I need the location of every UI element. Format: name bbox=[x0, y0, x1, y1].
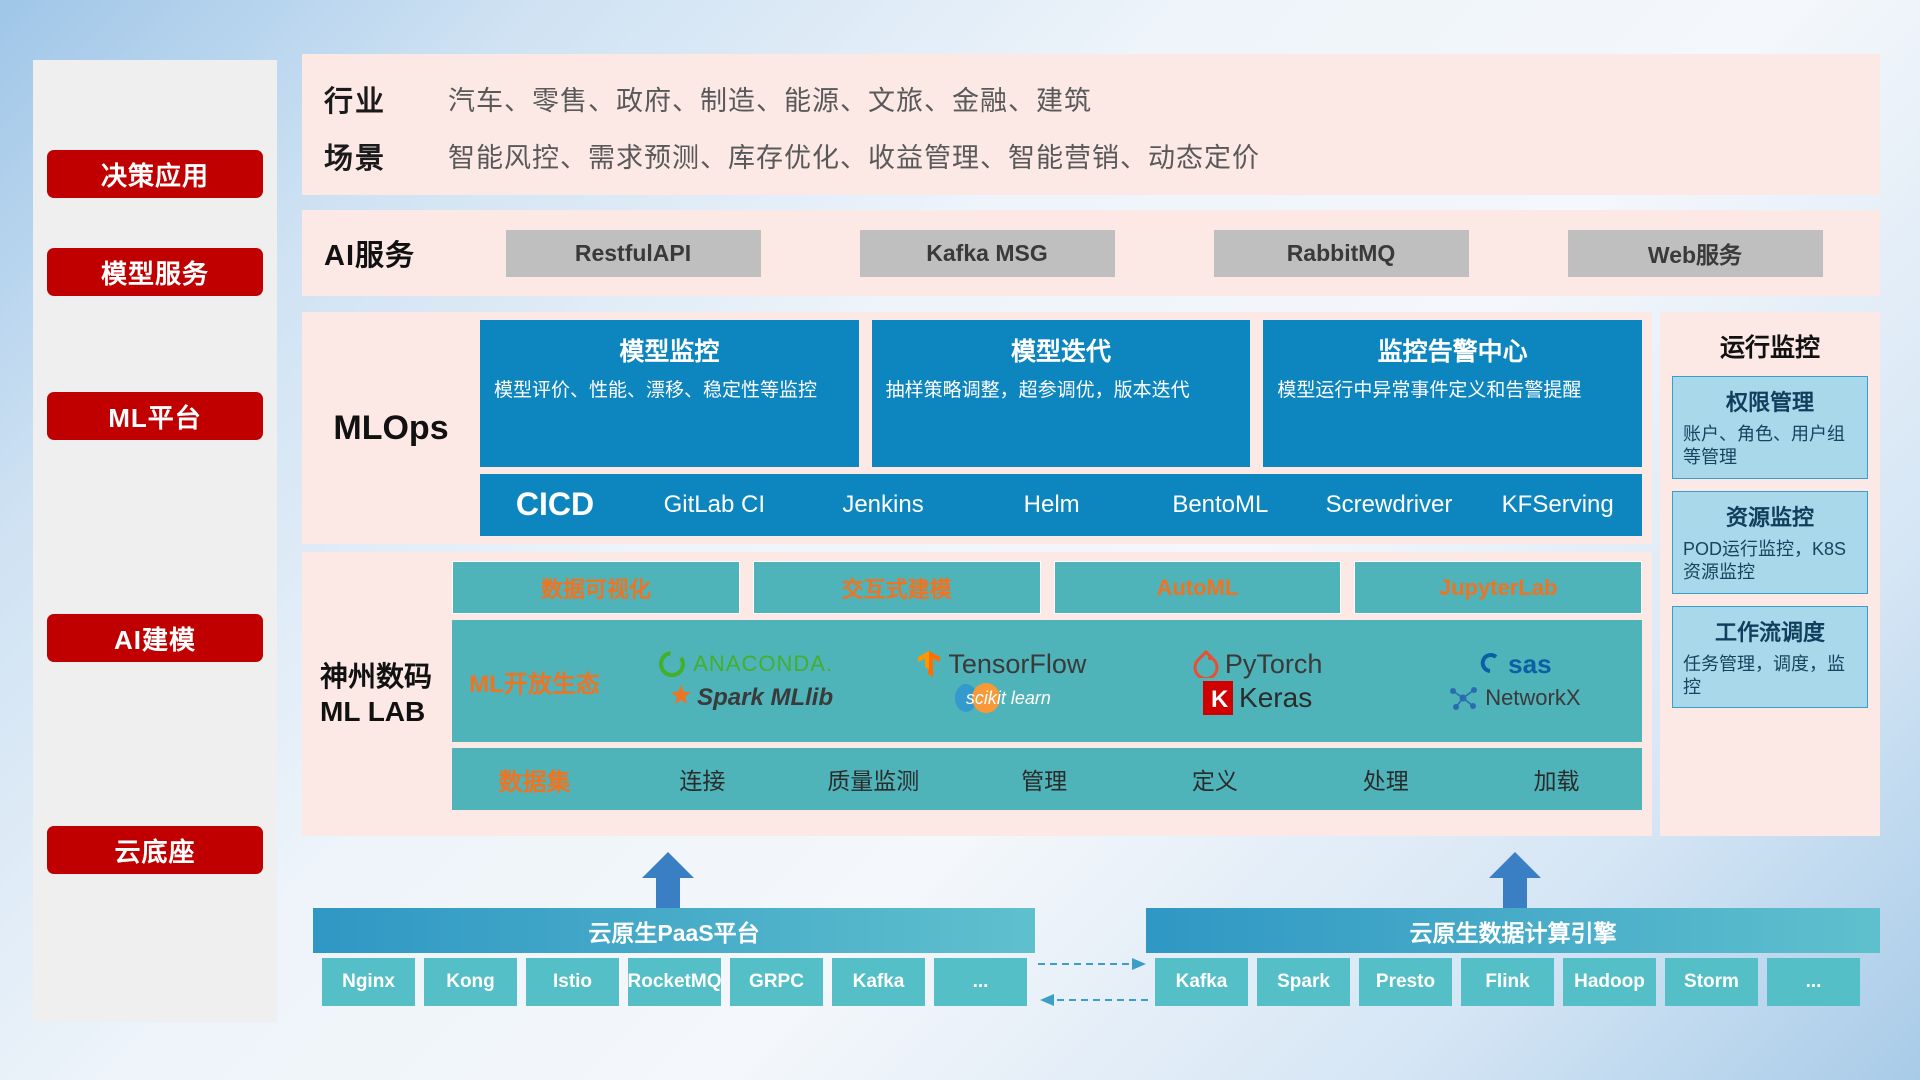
dataset-item-list: 连接 质量监测 管理 定义 处理 加载 bbox=[617, 762, 1642, 796]
dataset-item-load[interactable]: 加载 bbox=[1471, 762, 1642, 796]
runtime-monitor-title: 运行监控 bbox=[1672, 328, 1868, 364]
ml-open-ecosystem-row: ML开放生态 ANACONDA. TensorFlow PyTorch sas bbox=[452, 620, 1642, 742]
dataset-item-quality[interactable]: 质量监测 bbox=[788, 762, 959, 796]
runtime-monitor-column: 运行监控 权限管理 账户、角色、用户组等管理 资源监控 POD运行监控，K8S资… bbox=[1660, 312, 1880, 836]
paas-chip-more[interactable]: ... bbox=[934, 958, 1027, 1006]
scikit-learn-logo: scikit learn bbox=[873, 681, 1129, 715]
paas-chip-rocketmq[interactable]: RocketMQ bbox=[628, 958, 721, 1006]
cicd-item-jenkins[interactable]: Jenkins bbox=[799, 492, 968, 518]
scenario-label: 场景 bbox=[324, 135, 448, 177]
industry-label: 行业 bbox=[324, 78, 448, 120]
bidirectional-dashed-connector bbox=[1038, 952, 1148, 1012]
scenario-values: 智能风控、需求预测、库存优化、收益管理、智能营销、动态定价 bbox=[448, 136, 1260, 175]
ai-service-chip-web-service[interactable]: Web服务 bbox=[1568, 230, 1823, 277]
stage-chip-model-service[interactable]: 模型服务 bbox=[47, 248, 263, 296]
paas-chip-kafka[interactable]: Kafka bbox=[832, 958, 925, 1006]
cloud-data-engine-bar[interactable]: 云原生数据计算引擎 bbox=[1146, 908, 1880, 953]
ml-lab-tool-automl[interactable]: AutoML bbox=[1054, 561, 1342, 614]
cicd-title: CICD bbox=[480, 486, 630, 523]
decision-application-band: 行业 汽车、零售、政府、制造、能源、文旅、金融、建筑 场景 智能风控、需求预测、… bbox=[302, 54, 1880, 195]
mlops-card-list: 模型监控 模型评价、性能、漂移、稳定性等监控 模型迭代 抽样策略调整，超参调优，… bbox=[480, 320, 1642, 467]
ai-service-chip-rabbitmq[interactable]: RabbitMQ bbox=[1214, 230, 1469, 277]
paas-chip-grpc[interactable]: GRPC bbox=[730, 958, 823, 1006]
dataset-label: 数据集 bbox=[452, 762, 617, 797]
ml-lab-content: 数据可视化 交互式建模 AutoML JupyterLab ML开放生态 ANA… bbox=[452, 552, 1652, 836]
cicd-item-list: GitLab CI Jenkins Helm BentoML Screwdriv… bbox=[630, 492, 1642, 518]
ai-service-label: AI服务 bbox=[324, 232, 448, 274]
ecosystem-logo-grid: ANACONDA. TensorFlow PyTorch sas Spark M bbox=[617, 647, 1642, 715]
monitor-card-permission[interactable]: 权限管理 账户、角色、用户组等管理 bbox=[1672, 376, 1868, 479]
tensorflow-logo-text: TensorFlow bbox=[948, 649, 1086, 680]
ml-lab-tool-jupyterlab[interactable]: JupyterLab bbox=[1354, 561, 1642, 614]
stage-chip-ml-platform[interactable]: ML平台 bbox=[47, 392, 263, 440]
engine-chip-flink[interactable]: Flink bbox=[1461, 958, 1554, 1006]
ml-lab-label: 神州数码 ML LAB bbox=[302, 552, 452, 836]
paas-chip-row: Nginx Kong Istio RocketMQ GRPC Kafka ... bbox=[322, 958, 1027, 1006]
ml-lab-label-line2: ML LAB bbox=[320, 694, 425, 729]
ml-lab-label-line1: 神州数码 bbox=[320, 659, 432, 694]
keras-logo: K Keras bbox=[1130, 681, 1386, 715]
dataset-item-manage[interactable]: 管理 bbox=[959, 762, 1130, 796]
stage-chip-ai-modeling[interactable]: AI建模 bbox=[47, 614, 263, 662]
data-engine-chip-row: Kafka Spark Presto Flink Hadoop Storm ..… bbox=[1155, 958, 1860, 1006]
mlops-card-alert-center[interactable]: 监控告警中心 模型运行中异常事件定义和告警提醒 bbox=[1263, 320, 1642, 467]
ml-lab-tool-data-visualization[interactable]: 数据可视化 bbox=[452, 561, 740, 614]
monitor-card-desc: 账户、角色、用户组等管理 bbox=[1683, 423, 1857, 470]
mlops-card-title: 监控告警中心 bbox=[1277, 332, 1628, 368]
engine-chip-storm[interactable]: Storm bbox=[1665, 958, 1758, 1006]
mlops-card-title: 模型迭代 bbox=[886, 332, 1237, 368]
mlops-content: 模型监控 模型评价、性能、漂移、稳定性等监控 模型迭代 抽样策略调整，超参调优，… bbox=[480, 312, 1652, 544]
engine-chip-hadoop[interactable]: Hadoop bbox=[1563, 958, 1656, 1006]
anaconda-logo: ANACONDA. bbox=[617, 649, 873, 679]
scenario-row: 场景 智能风控、需求预测、库存优化、收益管理、智能营销、动态定价 bbox=[324, 127, 1880, 184]
pytorch-logo-text: PyTorch bbox=[1225, 649, 1323, 680]
industry-values: 汽车、零售、政府、制造、能源、文旅、金融、建筑 bbox=[448, 79, 1092, 118]
ai-service-chip-list: RestfulAPI Kafka MSG RabbitMQ Web服务 bbox=[448, 230, 1880, 277]
networkx-logo: NetworkX bbox=[1386, 683, 1642, 713]
cicd-item-kfserving[interactable]: KFServing bbox=[1473, 492, 1642, 518]
monitor-card-title: 资源监控 bbox=[1683, 500, 1857, 532]
sas-logo: sas bbox=[1386, 649, 1642, 680]
mlops-card-model-monitoring[interactable]: 模型监控 模型评价、性能、漂移、稳定性等监控 bbox=[480, 320, 859, 467]
sas-logo-text: sas bbox=[1508, 649, 1551, 680]
industry-row: 行业 汽车、零售、政府、制造、能源、文旅、金融、建筑 bbox=[324, 70, 1880, 127]
pytorch-logo: PyTorch bbox=[1130, 649, 1386, 680]
stage-chip-decision[interactable]: 决策应用 bbox=[47, 150, 263, 198]
upward-arrow-left bbox=[638, 852, 698, 910]
dataset-item-connect[interactable]: 连接 bbox=[617, 762, 788, 796]
cicd-row: CICD GitLab CI Jenkins Helm BentoML Scre… bbox=[480, 474, 1642, 537]
mlops-card-desc: 模型运行中异常事件定义和告警提醒 bbox=[1277, 378, 1628, 404]
upward-arrow-right bbox=[1485, 852, 1545, 910]
paas-chip-nginx[interactable]: Nginx bbox=[322, 958, 415, 1006]
engine-chip-kafka[interactable]: Kafka bbox=[1155, 958, 1248, 1006]
paas-chip-kong[interactable]: Kong bbox=[424, 958, 517, 1006]
spark-mllib-logo-text: Spark MLlib bbox=[697, 684, 833, 712]
mlops-card-desc: 模型评价、性能、漂移、稳定性等监控 bbox=[494, 378, 845, 404]
dataset-item-process[interactable]: 处理 bbox=[1300, 762, 1471, 796]
dataset-item-define[interactable]: 定义 bbox=[1129, 762, 1300, 796]
mlops-band: MLOps 模型监控 模型评价、性能、漂移、稳定性等监控 模型迭代 抽样策略调整… bbox=[302, 312, 1652, 544]
engine-chip-spark[interactable]: Spark bbox=[1257, 958, 1350, 1006]
cloud-paas-bar[interactable]: 云原生PaaS平台 bbox=[313, 908, 1035, 953]
keras-logo-text: Keras bbox=[1239, 682, 1312, 714]
cicd-item-screwdriver[interactable]: Screwdriver bbox=[1305, 492, 1474, 518]
monitor-card-workflow[interactable]: 工作流调度 任务管理，调度，监控 bbox=[1672, 606, 1868, 709]
scikit-learn-logo-text: scikit learn bbox=[966, 688, 1051, 709]
ai-service-chip-kafka-msg[interactable]: Kafka MSG bbox=[860, 230, 1115, 277]
spark-mllib-logo: Spark MLlib bbox=[617, 684, 873, 712]
monitor-card-desc: POD运行监控，K8S资源监控 bbox=[1683, 538, 1857, 585]
dataset-row: 数据集 连接 质量监测 管理 定义 处理 加载 bbox=[452, 748, 1642, 810]
mlops-card-desc: 抽样策略调整，超参调优，版本迭代 bbox=[886, 378, 1237, 404]
engine-chip-more[interactable]: ... bbox=[1767, 958, 1860, 1006]
paas-chip-istio[interactable]: Istio bbox=[526, 958, 619, 1006]
monitor-card-title: 工作流调度 bbox=[1683, 615, 1857, 647]
mlops-label: MLOps bbox=[302, 312, 480, 544]
monitor-card-title: 权限管理 bbox=[1683, 385, 1857, 417]
ai-service-band: AI服务 RestfulAPI Kafka MSG RabbitMQ Web服务 bbox=[302, 210, 1880, 296]
mlops-card-title: 模型监控 bbox=[494, 332, 845, 368]
ml-lab-tool-interactive-modeling[interactable]: 交互式建模 bbox=[753, 561, 1041, 614]
ml-open-ecosystem-label: ML开放生态 bbox=[452, 664, 617, 699]
tensorflow-logo: TensorFlow bbox=[873, 649, 1129, 680]
anaconda-logo-text: ANACONDA. bbox=[693, 651, 833, 677]
stage-chip-cloud-base[interactable]: 云底座 bbox=[47, 826, 263, 874]
cicd-item-bentoml[interactable]: BentoML bbox=[1136, 492, 1305, 518]
ai-service-chip-restfulapi[interactable]: RestfulAPI bbox=[506, 230, 761, 277]
stage-sidebar: 决策应用 模型服务 ML平台 AI建模 云底座 bbox=[33, 60, 277, 1022]
engine-chip-presto[interactable]: Presto bbox=[1359, 958, 1452, 1006]
cicd-item-helm[interactable]: Helm bbox=[967, 492, 1136, 518]
networkx-logo-text: NetworkX bbox=[1485, 685, 1580, 711]
cicd-item-gitlab-ci[interactable]: GitLab CI bbox=[630, 492, 799, 518]
ml-lab-tool-list: 数据可视化 交互式建模 AutoML JupyterLab bbox=[452, 561, 1642, 614]
svg-text:K: K bbox=[1211, 686, 1229, 713]
monitor-card-desc: 任务管理，调度，监控 bbox=[1683, 653, 1857, 700]
ml-lab-band: 神州数码 ML LAB 数据可视化 交互式建模 AutoML JupyterLa… bbox=[302, 552, 1652, 836]
mlops-card-model-iteration[interactable]: 模型迭代 抽样策略调整，超参调优，版本迭代 bbox=[872, 320, 1251, 467]
monitor-card-resource[interactable]: 资源监控 POD运行监控，K8S资源监控 bbox=[1672, 491, 1868, 594]
